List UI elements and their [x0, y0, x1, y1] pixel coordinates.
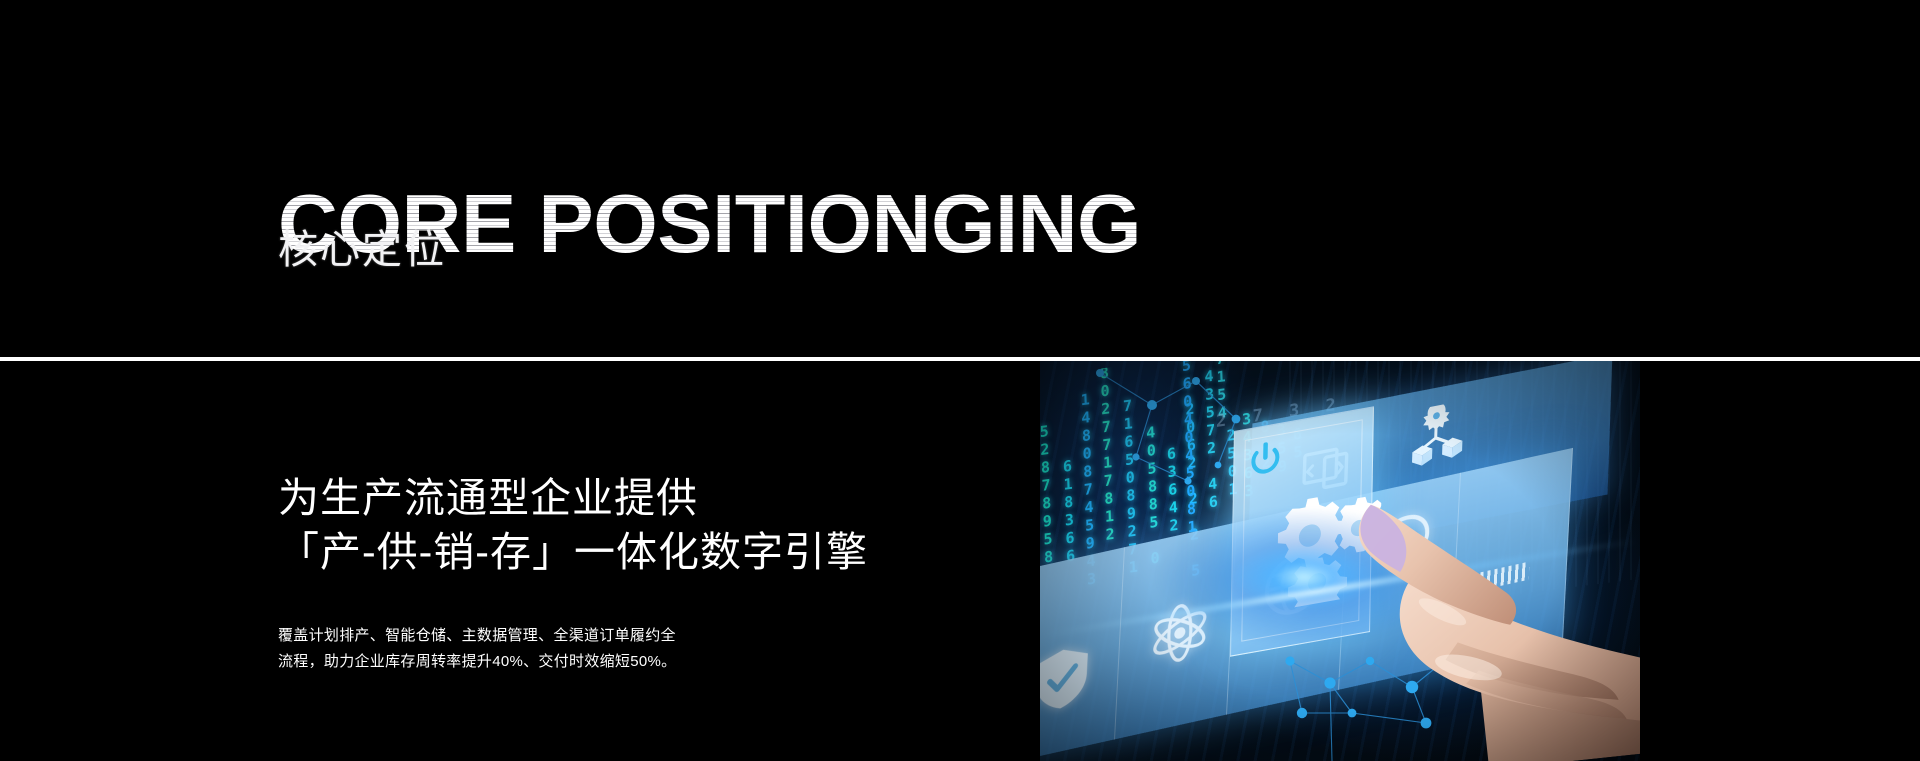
image-vignette [1040, 361, 1640, 761]
body-section: 为生产流通型企业提供 「产-供-销-存」一体化数字引擎 覆盖计划排产、智能仓储、… [0, 361, 1920, 761]
slide-root: CORE POSITIONGING 核心定位 为生产流通型企业提供 「产-供-销… [0, 0, 1920, 761]
headline-line-2: 「产-供-销-存」一体化数字引擎 [278, 525, 978, 579]
header-section: CORE POSITIONGING 核心定位 [0, 0, 1920, 358]
title-stack: CORE POSITIONGING 核心定位 [278, 182, 1378, 302]
copy-block: 为生产流通型企业提供 「产-供-销-存」一体化数字引擎 覆盖计划排产、智能仓储、… [278, 471, 978, 676]
headline-line-1: 为生产流通型企业提供 [278, 471, 978, 525]
hero-image: 52878958 618366 14808745943 8027717812 7… [1040, 361, 1640, 761]
supporting-paragraph: 覆盖计划排产、智能仓储、主数据管理、全渠道订单履约全流程，助力企业库存周转率提升… [278, 623, 678, 676]
page-title-chinese: 核心定位 [278, 230, 446, 270]
